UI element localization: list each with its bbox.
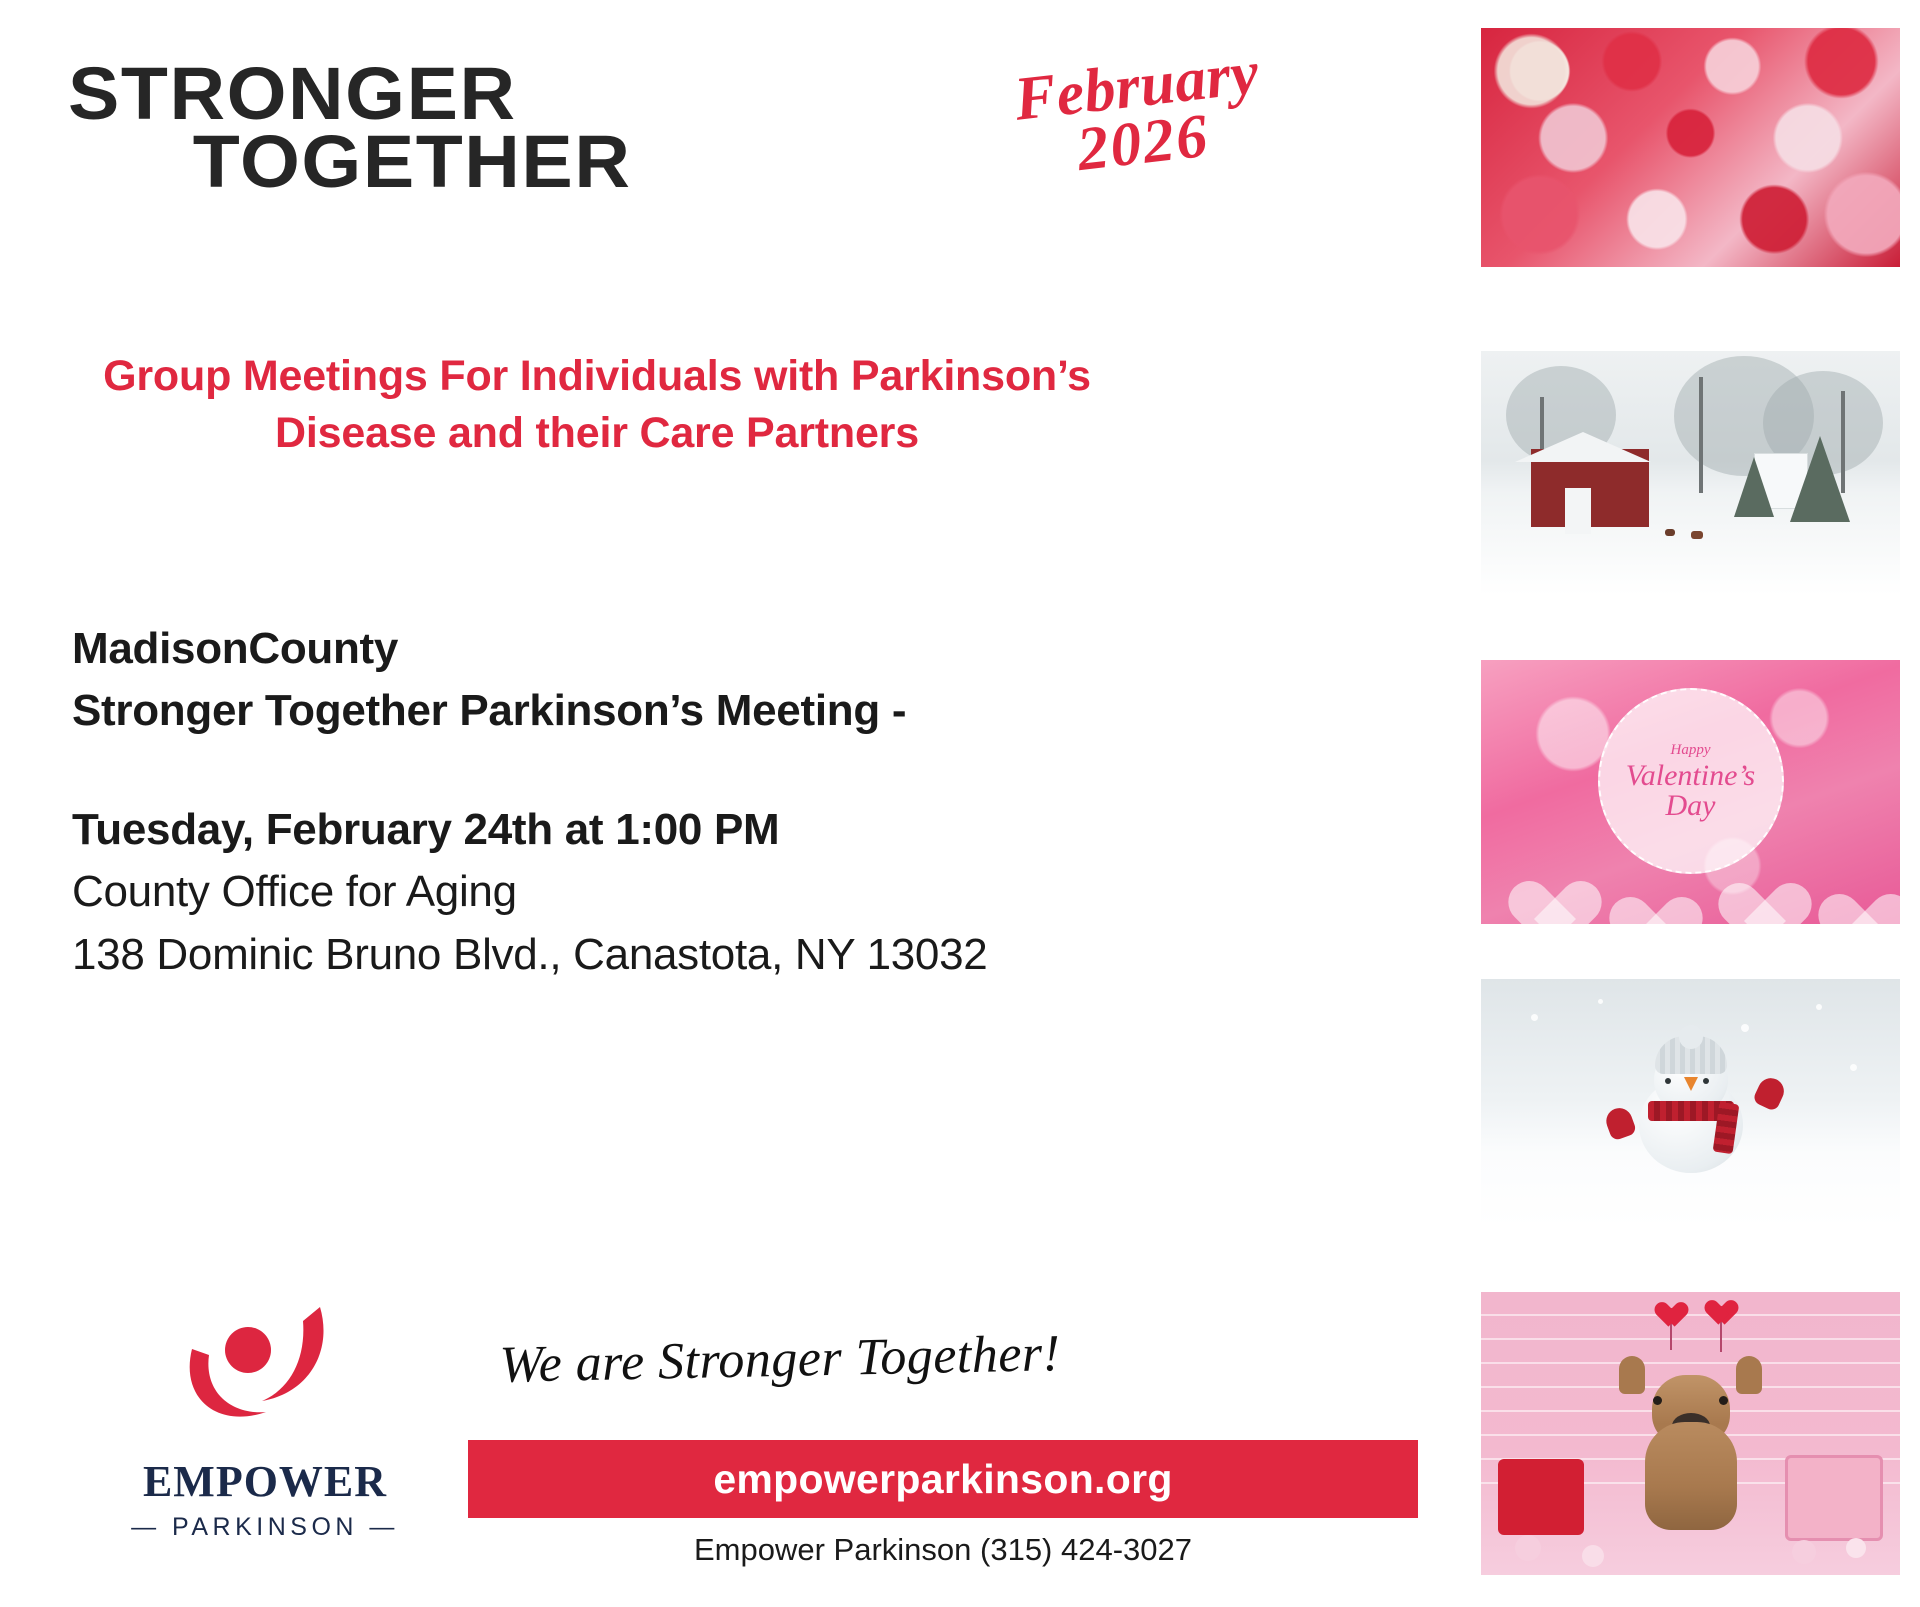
snowy-red-barn-photo	[1481, 351, 1900, 595]
photo-column: Happy Valentine’s Day	[1481, 0, 1920, 1607]
detail-address: 138 Dominic Bruno Blvd., Canastota, NY 1…	[72, 924, 1162, 986]
valentine-line-1: Valentine’s	[1626, 761, 1755, 791]
meeting-details: MadisonCounty Stronger Together Parkinso…	[72, 618, 1162, 986]
month-badge: February 2026	[950, 37, 1331, 192]
footer-contact: Empower Parkinson (315) 424-3027	[468, 1532, 1418, 1568]
detail-meeting-name: Stronger Together Parkinson’s Meeting -	[72, 680, 1162, 742]
detail-venue: County Office for Aging	[72, 861, 1162, 923]
valentine-dog-photo	[1481, 1292, 1900, 1575]
logo-subwordmark: — PARKINSON —	[130, 1513, 400, 1542]
subheading: Group Meetings For Individuals with Park…	[62, 348, 1132, 462]
title-line-2: TOGETHER	[68, 128, 817, 196]
snowman-photo	[1481, 979, 1900, 1228]
detail-spacer	[72, 743, 1162, 799]
valentine-badge: Happy Valentine’s Day	[1598, 688, 1784, 874]
website-url: empowerparkinson.org	[713, 1456, 1172, 1503]
valentine-heart-cookies-photo	[1481, 28, 1900, 267]
flyer-root: STRONGER TOGETHER February 2026 Group Me…	[0, 0, 1920, 1607]
happy-valentines-day-graphic: Happy Valentine’s Day	[1481, 660, 1900, 924]
tagline: We are Stronger Together!	[429, 1323, 1130, 1397]
title-line-1: STRONGER	[68, 60, 817, 128]
page-title: STRONGER TOGETHER	[68, 60, 788, 196]
empower-figure-icon	[170, 1305, 360, 1450]
heart-balloon-icon	[1653, 1292, 1679, 1316]
valentine-line-2: Day	[1666, 791, 1716, 821]
valentine-happy-text: Happy	[1671, 742, 1711, 759]
detail-county: MadisonCounty	[72, 618, 1162, 680]
heart-balloon-icon	[1703, 1292, 1729, 1314]
empower-parkinson-logo: EMPOWER — PARKINSON —	[130, 1305, 400, 1545]
pink-heart-gift-box	[1785, 1455, 1883, 1541]
logo-wordmark: EMPOWER	[130, 1456, 400, 1507]
detail-datetime: Tuesday, February 24th at 1:00 PM	[72, 799, 1162, 861]
website-banner[interactable]: empowerparkinson.org	[468, 1440, 1418, 1518]
content-column: STRONGER TOGETHER February 2026 Group Me…	[0, 0, 1180, 1607]
